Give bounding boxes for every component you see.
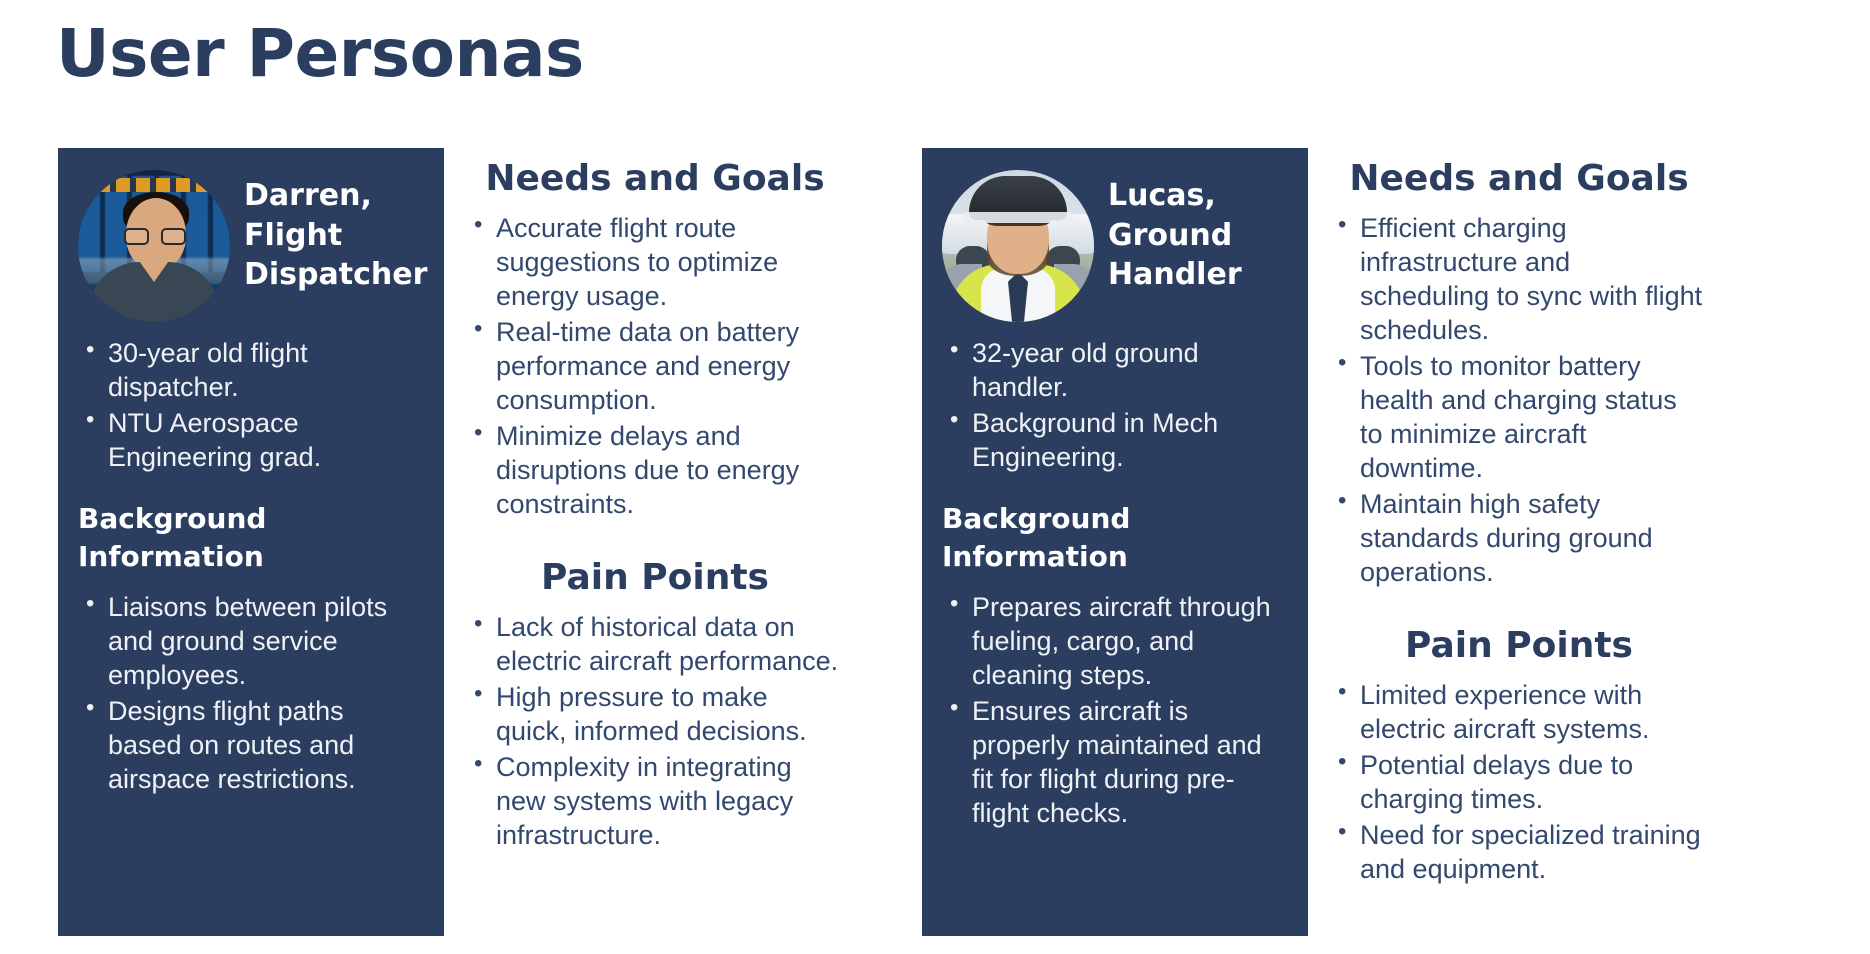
avatar-flight-dispatcher (78, 170, 230, 322)
persona-detail-lucas: Needs and Goals Efficient charging infra… (1308, 148, 1712, 888)
persona-card-lucas: Lucas, Ground Handler 32-year old ground… (922, 148, 1308, 936)
page-title: User Personas (56, 18, 584, 91)
needs-and-goals-heading-lucas: Needs and Goals (1334, 158, 1704, 199)
background-list-darren: Liaisons between pilots and ground servi… (78, 590, 424, 796)
list-item: Potential delays due to charging times. (1334, 748, 1704, 816)
list-item: Liaisons between pilots and ground servi… (78, 590, 424, 692)
persona-header-lucas: Lucas, Ground Handler (942, 170, 1288, 322)
needs-and-goals-heading-darren: Needs and Goals (470, 158, 840, 199)
list-item: Ensures aircraft is properly maintained … (942, 694, 1288, 830)
persona-name-lucas: Lucas, Ground Handler (1108, 170, 1288, 295)
background-heading-darren: Background Information (78, 500, 424, 576)
list-item: Background in Mech Engineering. (942, 406, 1288, 474)
list-item: 30-year old flight dispatcher. (78, 336, 424, 404)
list-item: NTU Aerospace Engineering grad. (78, 406, 424, 474)
quick-facts-list-darren: 30-year old flight dispatcher. NTU Aeros… (78, 336, 424, 474)
persona-header-darren: Darren, Flight Dispatcher (78, 170, 424, 322)
list-item: Minimize delays and disruptions due to e… (470, 419, 840, 521)
background-list-lucas: Prepares aircraft through fueling, cargo… (942, 590, 1288, 830)
persona-block-lucas: Lucas, Ground Handler 32-year old ground… (922, 148, 1712, 936)
pain-points-list-lucas: Limited experience with electric aircraf… (1334, 678, 1704, 886)
personas-container: Darren, Flight Dispatcher 30-year old fl… (0, 148, 1870, 936)
list-item: Prepares aircraft through fueling, cargo… (942, 590, 1288, 692)
needs-and-goals-list-darren: Accurate flight route suggestions to opt… (470, 211, 840, 521)
persona-block-darren: Darren, Flight Dispatcher 30-year old fl… (58, 148, 848, 936)
list-item: Real-time data on battery performance an… (470, 315, 840, 417)
background-heading-lucas: Background Information (942, 500, 1288, 576)
list-item: 32-year old ground handler. (942, 336, 1288, 404)
list-item: Lack of historical data on electric airc… (470, 610, 840, 678)
persona-name-darren: Darren, Flight Dispatcher (244, 170, 427, 295)
list-item: Designs flight paths based on routes and… (78, 694, 424, 796)
quick-facts-list-lucas: 32-year old ground handler. Background i… (942, 336, 1288, 474)
list-item: Accurate flight route suggestions to opt… (470, 211, 840, 313)
list-item: Efficient charging infrastructure and sc… (1334, 211, 1704, 347)
pain-points-heading-lucas: Pain Points (1334, 625, 1704, 666)
list-item: Need for specialized training and equipm… (1334, 818, 1704, 886)
list-item: Limited experience with electric aircraf… (1334, 678, 1704, 746)
list-item: Maintain high safety standards during gr… (1334, 487, 1704, 589)
list-item: Complexity in integrating new systems wi… (470, 750, 840, 852)
user-personas-slide: User Personas (0, 0, 1870, 954)
needs-and-goals-list-lucas: Efficient charging infrastructure and sc… (1334, 211, 1704, 589)
pain-points-heading-darren: Pain Points (470, 557, 840, 598)
list-item: High pressure to make quick, informed de… (470, 680, 840, 748)
pain-points-list-darren: Lack of historical data on electric airc… (470, 610, 840, 852)
avatar-ground-handler (942, 170, 1094, 322)
persona-card-darren: Darren, Flight Dispatcher 30-year old fl… (58, 148, 444, 936)
persona-detail-darren: Needs and Goals Accurate flight route su… (444, 148, 848, 854)
list-item: Tools to monitor battery health and char… (1334, 349, 1704, 485)
